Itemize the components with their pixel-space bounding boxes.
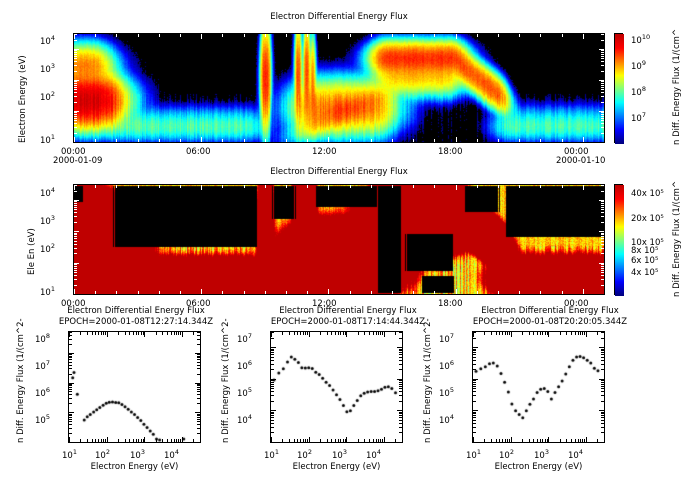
axis-tick — [395, 439, 396, 442]
axis-tick — [74, 89, 77, 90]
panel2-ytick-3: 103 — [40, 214, 55, 227]
axis-tick — [309, 332, 310, 337]
axis-tick — [562, 34, 563, 37]
panel2-ytick-1: 101 — [40, 285, 55, 298]
axis-tick — [87, 439, 88, 442]
panel5-xtick-3: 104 — [568, 448, 583, 461]
axis-tick — [197, 424, 200, 425]
axis-tick — [601, 352, 604, 353]
panel2-cbtick-4: 6x 10⁵ — [631, 256, 658, 266]
axis-tick — [511, 332, 512, 337]
axis-tick — [601, 207, 604, 208]
axis-tick — [159, 139, 160, 142]
axis-tick — [522, 439, 523, 442]
axis-tick — [560, 439, 561, 442]
axis-tick — [473, 417, 476, 418]
axis-tick — [74, 83, 77, 84]
axis-tick — [599, 347, 604, 348]
axis-tick — [562, 185, 563, 188]
axis-tick — [125, 439, 126, 442]
axis-tick — [74, 112, 77, 113]
axis-tick — [340, 439, 341, 442]
axis-tick — [136, 439, 137, 442]
axis-tick — [601, 83, 604, 84]
axis-tick — [499, 439, 500, 442]
axis-tick — [180, 291, 181, 294]
axis-tick — [586, 437, 587, 442]
axis-tick — [105, 332, 106, 335]
axis-tick — [473, 427, 476, 428]
panel1-xtick-1: 06:00 — [186, 147, 211, 157]
axis-tick — [74, 137, 75, 142]
panel5-xtick-1: 102 — [499, 448, 514, 461]
axis-tick — [434, 185, 435, 188]
axis-tick — [74, 234, 77, 235]
panel3-ytick-2: 106 — [35, 386, 50, 399]
axis-tick — [197, 374, 200, 375]
axis-tick — [533, 332, 534, 335]
panel1-ytick-1: 101 — [40, 133, 55, 146]
axis-tick — [118, 439, 119, 442]
axis-tick — [399, 420, 402, 421]
axis-tick — [162, 439, 163, 442]
axis-tick — [144, 437, 145, 442]
axis-tick — [540, 34, 541, 37]
axis-tick — [601, 216, 604, 217]
axis-tick — [545, 439, 546, 442]
panel5-ytick-2: 105 — [439, 386, 454, 399]
axis-tick — [116, 139, 117, 142]
axis-tick — [397, 410, 402, 411]
panel3-xtick-2: 103 — [130, 448, 145, 461]
axis-tick — [197, 391, 200, 392]
axis-tick — [601, 264, 604, 265]
axis-tick — [159, 291, 160, 294]
axis-tick — [69, 415, 72, 416]
axis-tick — [601, 120, 604, 121]
axis-tick — [601, 338, 604, 339]
axis-tick — [74, 111, 79, 112]
axis-tick — [584, 332, 585, 335]
panel4-spectrum-plot — [270, 331, 403, 443]
axis-tick — [69, 362, 72, 363]
axis-tick — [519, 291, 520, 294]
axis-tick — [496, 439, 497, 442]
axis-tick — [583, 185, 584, 190]
panel3-xtick-1: 102 — [95, 448, 110, 461]
axis-tick — [74, 275, 77, 276]
axis-tick — [397, 379, 402, 380]
axis-tick — [271, 357, 274, 358]
axis-tick — [477, 185, 478, 188]
axis-tick — [597, 439, 598, 442]
axis-tick — [271, 410, 276, 411]
axis-tick — [286, 185, 287, 188]
axis-tick — [601, 81, 604, 82]
axis-tick — [578, 439, 579, 442]
axis-tick — [498, 291, 499, 294]
axis-tick — [399, 395, 402, 396]
panel1-cbtick-1: 109 — [631, 59, 646, 72]
axis-tick — [473, 352, 476, 353]
axis-tick — [133, 439, 134, 442]
axis-tick — [271, 350, 274, 351]
axis-tick — [159, 185, 160, 188]
axis-tick — [138, 34, 139, 37]
axis-tick — [399, 382, 402, 383]
axis-tick — [601, 432, 604, 433]
axis-tick — [289, 332, 290, 335]
axis-tick — [473, 350, 476, 351]
axis-tick — [601, 102, 604, 103]
panel1-cbtick-3: 107 — [631, 111, 646, 124]
axis-tick — [343, 439, 344, 442]
axis-tick — [74, 61, 77, 62]
panel1-colorbar — [614, 33, 623, 143]
axis-tick — [118, 332, 119, 335]
axis-tick — [496, 332, 497, 335]
panel4-xtick-0: 101 — [264, 448, 279, 461]
panel2-colorbar — [614, 184, 623, 295]
axis-tick — [197, 339, 200, 340]
axis-tick — [197, 389, 200, 390]
axis-tick — [74, 289, 75, 294]
axis-tick — [74, 50, 77, 51]
axis-tick — [399, 384, 402, 385]
panel2-colorbar-gradient — [615, 185, 624, 296]
axis-tick — [133, 332, 134, 335]
axis-tick — [197, 433, 200, 434]
axis-tick — [74, 241, 77, 242]
axis-tick — [74, 87, 77, 88]
axis-tick — [473, 388, 476, 389]
panel4-xtick-2: 103 — [332, 448, 347, 461]
axis-tick — [601, 236, 604, 237]
axis-tick — [399, 338, 402, 339]
axis-tick — [74, 244, 77, 245]
axis-tick — [560, 332, 561, 335]
axis-tick — [74, 52, 77, 53]
axis-tick — [294, 439, 295, 442]
axis-tick — [200, 439, 201, 442]
axis-tick — [197, 421, 200, 422]
panel1-xdate-left: 2000-01-09 — [53, 156, 102, 166]
axis-tick — [69, 412, 74, 413]
axis-tick — [399, 432, 402, 433]
axis-tick — [244, 139, 245, 142]
axis-tick — [473, 386, 476, 387]
axis-tick — [601, 50, 604, 51]
axis-tick — [69, 344, 72, 345]
axis-tick — [116, 34, 117, 37]
axis-tick — [297, 332, 298, 335]
panel3-ytick-1: 107 — [35, 359, 50, 372]
axis-tick — [222, 34, 223, 37]
axis-tick — [244, 291, 245, 294]
axis-tick — [107, 437, 108, 442]
axis-tick — [402, 332, 403, 335]
axis-tick — [182, 332, 183, 337]
axis-tick — [197, 417, 200, 418]
axis-tick — [601, 54, 604, 55]
axis-tick — [271, 382, 274, 383]
axis-tick — [331, 332, 332, 335]
axis-tick — [167, 439, 168, 442]
axis-tick — [69, 437, 70, 442]
panel2-cbtick-5: 4x 10⁵ — [631, 268, 658, 278]
axis-tick — [286, 139, 287, 142]
axis-tick — [69, 424, 72, 425]
axis-tick — [599, 142, 604, 143]
axis-tick — [473, 382, 476, 383]
axis-tick — [601, 349, 604, 350]
axis-tick — [138, 139, 139, 142]
axis-tick — [328, 289, 329, 294]
axis-tick — [604, 439, 605, 442]
axis-tick — [271, 364, 274, 365]
panel1-xtick-3: 18:00 — [438, 147, 463, 157]
axis-tick — [575, 439, 576, 442]
axis-tick — [271, 360, 274, 361]
axis-tick — [392, 34, 393, 37]
axis-tick — [74, 212, 77, 213]
axis-tick — [197, 419, 200, 420]
axis-tick — [582, 439, 583, 442]
axis-tick — [271, 442, 276, 443]
axis-tick — [369, 439, 370, 442]
axis-tick — [74, 96, 77, 97]
axis-tick — [484, 439, 485, 442]
axis-tick — [69, 389, 72, 390]
axis-tick — [399, 391, 402, 392]
panel3-ytick-3: 105 — [35, 413, 50, 426]
axis-tick — [95, 439, 96, 442]
axis-tick — [601, 58, 604, 59]
axis-tick — [74, 92, 77, 93]
axis-tick — [601, 420, 604, 421]
axis-tick — [74, 253, 77, 254]
axis-tick — [69, 428, 72, 429]
axis-tick — [74, 116, 77, 117]
panel1-ytick-4: 104 — [40, 34, 55, 47]
panel1-spectrogram-canvas — [74, 34, 605, 143]
axis-tick — [197, 344, 200, 345]
axis-tick — [182, 437, 183, 442]
axis-tick — [69, 357, 72, 358]
axis-tick — [74, 279, 77, 280]
axis-tick — [271, 423, 274, 424]
axis-tick — [511, 437, 512, 442]
axis-tick — [473, 338, 476, 339]
axis-tick — [599, 111, 604, 112]
axis-tick — [305, 439, 306, 442]
axis-tick — [271, 437, 272, 442]
axis-tick — [601, 244, 604, 245]
axis-tick — [399, 401, 402, 402]
axis-tick — [473, 364, 476, 365]
axis-tick — [473, 354, 476, 355]
axis-tick — [599, 231, 604, 232]
axis-tick — [74, 207, 77, 208]
axis-tick — [327, 439, 328, 442]
axis-tick — [537, 439, 538, 442]
axis-tick — [178, 439, 179, 442]
axis-tick — [382, 439, 383, 442]
axis-tick — [138, 291, 139, 294]
axis-tick — [599, 80, 604, 81]
axis-tick — [392, 291, 393, 294]
axis-tick — [601, 123, 604, 124]
axis-tick — [74, 120, 77, 121]
axis-tick — [193, 332, 194, 335]
axis-tick — [180, 439, 181, 442]
panel2-cbtick-0: 40x 10⁵ — [631, 189, 664, 199]
axis-tick — [74, 268, 77, 269]
axis-tick — [601, 268, 604, 269]
axis-tick — [540, 139, 541, 142]
axis-tick — [101, 439, 102, 442]
axis-tick — [141, 332, 142, 335]
axis-tick — [399, 412, 402, 413]
axis-tick — [297, 439, 298, 442]
axis-tick — [601, 241, 604, 242]
axis-tick — [222, 291, 223, 294]
axis-tick — [156, 332, 157, 335]
axis-tick — [103, 439, 104, 442]
axis-tick — [125, 332, 126, 335]
axis-tick — [69, 403, 72, 404]
axis-tick — [601, 116, 604, 117]
axis-tick — [384, 332, 385, 337]
axis-tick — [116, 185, 117, 188]
axis-tick — [69, 442, 74, 443]
axis-tick — [601, 133, 604, 134]
axis-tick — [69, 419, 72, 420]
axis-tick — [74, 216, 77, 217]
axis-tick — [399, 354, 402, 355]
panel2-ytick-4: 104 — [40, 186, 55, 199]
axis-tick — [399, 350, 402, 351]
axis-tick — [601, 40, 604, 41]
panel2-spectrogram-canvas — [74, 185, 605, 295]
axis-tick — [69, 368, 72, 369]
axis-tick — [399, 427, 402, 428]
axis-tick — [499, 332, 500, 335]
axis-tick — [373, 332, 374, 335]
axis-tick — [136, 332, 137, 335]
axis-tick — [529, 439, 530, 442]
axis-tick — [402, 439, 403, 442]
axis-tick — [197, 414, 200, 415]
axis-tick — [195, 442, 200, 443]
axis-tick — [327, 332, 328, 335]
axis-tick — [174, 332, 175, 335]
axis-tick — [271, 354, 274, 355]
axis-tick — [195, 383, 200, 384]
axis-tick — [69, 354, 72, 355]
panel1-spectrogram-plot — [73, 33, 605, 143]
axis-tick — [74, 248, 77, 249]
axis-tick — [601, 234, 604, 235]
panel1-colorbar-gradient — [615, 34, 624, 144]
axis-tick — [473, 413, 476, 414]
axis-tick — [328, 185, 329, 190]
axis-tick — [197, 359, 200, 360]
axis-tick — [413, 185, 414, 188]
axis-tick — [309, 437, 310, 442]
axis-tick — [74, 233, 77, 234]
axis-tick — [197, 387, 200, 388]
axis-tick — [473, 420, 476, 421]
axis-tick — [69, 398, 72, 399]
axis-tick — [601, 279, 604, 280]
axis-tick — [271, 401, 274, 402]
panel1-cbtick-0: 1010 — [631, 33, 650, 46]
axis-tick — [335, 332, 336, 335]
axis-tick — [584, 439, 585, 442]
axis-tick — [343, 332, 344, 335]
axis-tick — [176, 439, 177, 442]
axis-tick — [601, 395, 604, 396]
axis-tick — [74, 49, 79, 50]
axis-tick — [473, 437, 474, 442]
axis-tick — [382, 332, 383, 335]
axis-tick — [601, 382, 604, 383]
axis-tick — [87, 332, 88, 335]
axis-tick — [271, 420, 274, 421]
axis-tick — [456, 185, 457, 190]
axis-tick — [307, 439, 308, 442]
axis-tick — [604, 291, 605, 294]
axis-tick — [371, 291, 372, 294]
axis-tick — [197, 335, 200, 336]
axis-tick — [69, 359, 72, 360]
axis-tick — [399, 380, 402, 381]
axis-tick — [597, 332, 598, 335]
axis-tick — [69, 356, 72, 357]
axis-tick — [331, 439, 332, 442]
axis-tick — [601, 401, 604, 402]
axis-tick — [562, 139, 563, 142]
axis-tick — [80, 332, 81, 335]
axis-tick — [69, 383, 74, 384]
axis-tick — [74, 102, 77, 103]
axis-tick — [116, 291, 117, 294]
axis-tick — [307, 291, 308, 294]
axis-tick — [197, 368, 200, 369]
axis-tick — [174, 439, 175, 442]
axis-tick — [601, 56, 604, 57]
axis-tick — [378, 332, 379, 335]
panel4-ytick-2: 105 — [237, 386, 252, 399]
axis-tick — [307, 34, 308, 37]
axis-tick — [519, 185, 520, 188]
axis-tick — [575, 332, 576, 335]
axis-tick — [473, 415, 476, 416]
axis-tick — [399, 360, 402, 361]
axis-tick — [197, 385, 200, 386]
panel1-cbtick-2: 108 — [631, 85, 646, 98]
axis-tick — [498, 139, 499, 142]
axis-tick — [265, 185, 266, 188]
axis-tick — [473, 357, 476, 358]
axis-tick — [434, 34, 435, 37]
axis-tick — [601, 388, 604, 389]
axis-tick — [271, 352, 274, 353]
axis-tick — [74, 263, 79, 264]
axis-tick — [74, 270, 77, 271]
axis-tick — [180, 185, 181, 188]
